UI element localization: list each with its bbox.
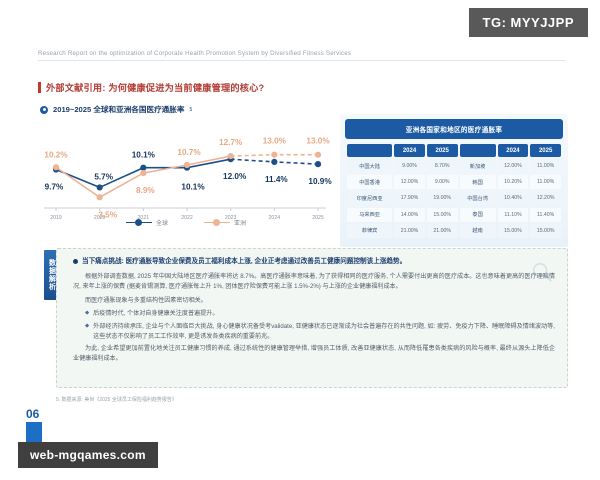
top-watermark: TG: MYYJJPP [469, 8, 588, 37]
table-cell-r0-c5: 11.00% [530, 159, 561, 173]
table-cell-r2-c1: 17.90% [394, 191, 425, 205]
table-row: 中国香港12.00%9.00%韩国10.20%11.00% [347, 175, 561, 189]
svg-text:13.0%: 13.0% [263, 137, 287, 146]
svg-text:10.1%: 10.1% [181, 183, 205, 192]
table-header-cell-5: 2025 [530, 144, 561, 157]
diamond-bullet-icon: ◆ [85, 309, 89, 318]
svg-text:10.9%: 10.9% [308, 177, 332, 186]
svg-text:10.7%: 10.7% [177, 148, 201, 157]
table-head: 2024202520242025 [347, 144, 561, 157]
table-header-cell-1: 2024 [394, 144, 425, 157]
table-cell-r4-c3: 越南 [460, 224, 496, 238]
svg-text:13.0%: 13.0% [306, 137, 330, 146]
analysis-lead-in: 而医疗通胀现象与多重结构性因素密切相关。 [73, 296, 555, 306]
legend-dot-asia [213, 219, 220, 226]
table-cell-r2-c0: 印度尼西亚 [347, 191, 392, 205]
table-cell-r1-c0: 中国香港 [347, 175, 392, 189]
table-cell-r3-c2: 15.00% [427, 208, 458, 222]
table-cell-r1-c1: 12.00% [394, 175, 425, 189]
svg-text:8.9%: 8.9% [136, 186, 155, 195]
table-cell-r4-c4: 15.00% [498, 224, 529, 238]
table-cell-r0-c2: 8.70% [427, 159, 458, 173]
bullet-circle-icon [40, 106, 48, 114]
svg-text:12.7%: 12.7% [219, 138, 243, 147]
page-number: 06 [26, 408, 52, 420]
bottom-watermark: web-mgqames.com [18, 442, 158, 468]
analysis-bullet-list: ◆后疫情时代, 个体对自身健康关注度普遍提升。◆外部经济持续承压, 企业与个人面… [73, 309, 555, 342]
table-row: 中国大陆9.00%8.70%新加坡12.00%11.00% [347, 159, 561, 173]
table-cell-r4-c5: 15.00% [530, 224, 561, 238]
legend-label-global: 全球 [156, 218, 168, 227]
chart-heading: 2019~2025 全球和亚洲各国医疗通胀率 5 [40, 104, 192, 115]
table-header-cell-2: 2025 [427, 144, 458, 157]
magnifier-icon [531, 261, 553, 283]
analysis-bullet-0: ◆后疫情时代, 个体对自身健康关注度普遍提升。 [73, 309, 555, 319]
table-cell-r3-c1: 14.00% [394, 208, 425, 222]
svg-text:11.4%: 11.4% [265, 175, 288, 184]
legend-line-global [126, 222, 152, 224]
analysis-bullet-text: 后疫情时代, 个体对自身健康关注度普遍提升。 [93, 309, 218, 319]
chart-svg: 20192020202120222023202420259.7%5.7%10.1… [40, 118, 332, 230]
table-row: 印度尼西亚17.90%19.00%中国台湾10.40%12.20% [347, 191, 561, 205]
table-header-cell-0 [347, 144, 392, 157]
table-cell-r3-c3: 泰国 [460, 208, 496, 222]
table-cell-r4-c2: 21.00% [427, 224, 458, 238]
table-cell-r4-c0: 菲律宾 [347, 224, 392, 238]
section-title: 外部文献引用: 为何健康促进为当前健康管理的核心? [38, 80, 264, 94]
table-body: 中国大陆9.00%8.70%新加坡12.00%11.00%中国香港12.00%9… [347, 159, 561, 238]
table-cell-r3-c0: 马来西亚 [347, 208, 392, 222]
section-accent-bar [38, 82, 41, 93]
analysis-paragraph: 根据外部调查数据, 2025 年中国大陆地区医疗通胀率将达 8.7%。高医疗通胀… [73, 272, 555, 292]
section-title-text: 外部文献引用: 为何健康促进为当前健康管理的核心? [46, 80, 264, 94]
diamond-bullet-icon: ◆ [85, 322, 89, 341]
chart-heading-text: 2019~2025 全球和亚洲各国医疗通胀率 [53, 104, 184, 115]
pain-point-row: 当下痛点挑战: 医疗通胀导致企业保费及员工福利成本上涨, 企业正考虑通过改善员工… [73, 257, 555, 266]
legend-label-asia: 亚洲 [234, 218, 246, 227]
table-title: 亚洲各国家和地区的医疗通胀率 [345, 119, 563, 139]
slide-page: TG: MYYJJPP Research Report on the optim… [0, 0, 600, 480]
line-chart: 20192020202120222023202420259.7%5.7%10.1… [40, 118, 332, 230]
table-cell-r0-c0: 中国大陆 [347, 159, 392, 173]
legend-item-global: 全球 [126, 218, 168, 227]
asia-inflation-table: 2024202520242025 中国大陆9.00%8.70%新加坡12.00%… [345, 142, 563, 240]
svg-text:5.7%: 5.7% [94, 172, 113, 181]
table-cell-r2-c3: 中国台湾 [460, 191, 496, 205]
footnote: 5. 数据来源: 美世《2025 全球员工保险福利趋势报告》 [56, 396, 556, 403]
analysis-panel: 当下痛点挑战: 医疗通胀导致企业保费及员工福利成本上涨, 企业正考虑通过改善员工… [56, 248, 568, 388]
table-cell-r1-c2: 9.00% [427, 175, 458, 189]
analysis-tail: 为此, 企业希望更加前置化地关注员工健康习惯的养成, 通过系统性的健康管理举措,… [73, 344, 555, 364]
table-header-row: 2024202520242025 [347, 144, 561, 157]
table-cell-r4-c1: 21.00% [394, 224, 425, 238]
chart-legend: 全球 亚洲 [40, 218, 332, 227]
analysis-bullet-1: ◆外部经济持续承压, 企业与个人面临巨大挑战, 身心健康状况备受考validat… [73, 322, 555, 342]
table-cell-r1-c4: 10.20% [498, 175, 529, 189]
running-header: Research Report on the optimization of C… [38, 50, 566, 61]
table-cell-r1-c5: 11.00% [530, 175, 561, 189]
svg-text:10.2%: 10.2% [44, 150, 68, 159]
svg-text:10.1%: 10.1% [132, 151, 156, 160]
table-header-cell-3 [460, 144, 496, 157]
table-cell-r0-c1: 9.00% [394, 159, 425, 173]
chart-heading-superscript: 5 [189, 107, 192, 113]
table-cell-r0-c3: 新加坡 [460, 159, 496, 173]
table-cell-r2-c5: 12.20% [530, 191, 561, 205]
table-row: 马来西亚14.00%15.00%泰国11.10%11.40% [347, 208, 561, 222]
pain-point-bullet-icon [73, 259, 78, 264]
svg-text:9.7%: 9.7% [45, 183, 64, 192]
pain-point-text: 当下痛点挑战: 医疗通胀导致企业保费及员工福利成本上涨, 企业正考虑通过改善员工… [82, 257, 406, 266]
table-cell-r2-c4: 10.40% [498, 191, 529, 205]
legend-item-asia: 亚洲 [204, 218, 246, 227]
table-header-cell-4: 2024 [498, 144, 529, 157]
table-cell-r0-c4: 12.00% [498, 159, 529, 173]
asia-inflation-table-panel: 亚洲各国家和地区的医疗通胀率 2024202520242025 中国大陆9.00… [340, 114, 568, 247]
table-cell-r2-c2: 19.00% [427, 191, 458, 205]
analysis-bullet-text: 外部经济持续承压, 企业与个人面临巨大挑战, 身心健康状况备受考validate… [93, 322, 555, 342]
legend-dot-global [135, 219, 142, 226]
table-cell-r3-c5: 11.40% [530, 208, 561, 222]
table-cell-r3-c4: 11.10% [498, 208, 529, 222]
legend-line-asia [204, 222, 230, 224]
table-cell-r1-c3: 韩国 [460, 175, 496, 189]
table-row: 菲律宾21.00%21.00%越南15.00%15.00% [347, 224, 561, 238]
svg-text:12.0%: 12.0% [223, 172, 247, 181]
